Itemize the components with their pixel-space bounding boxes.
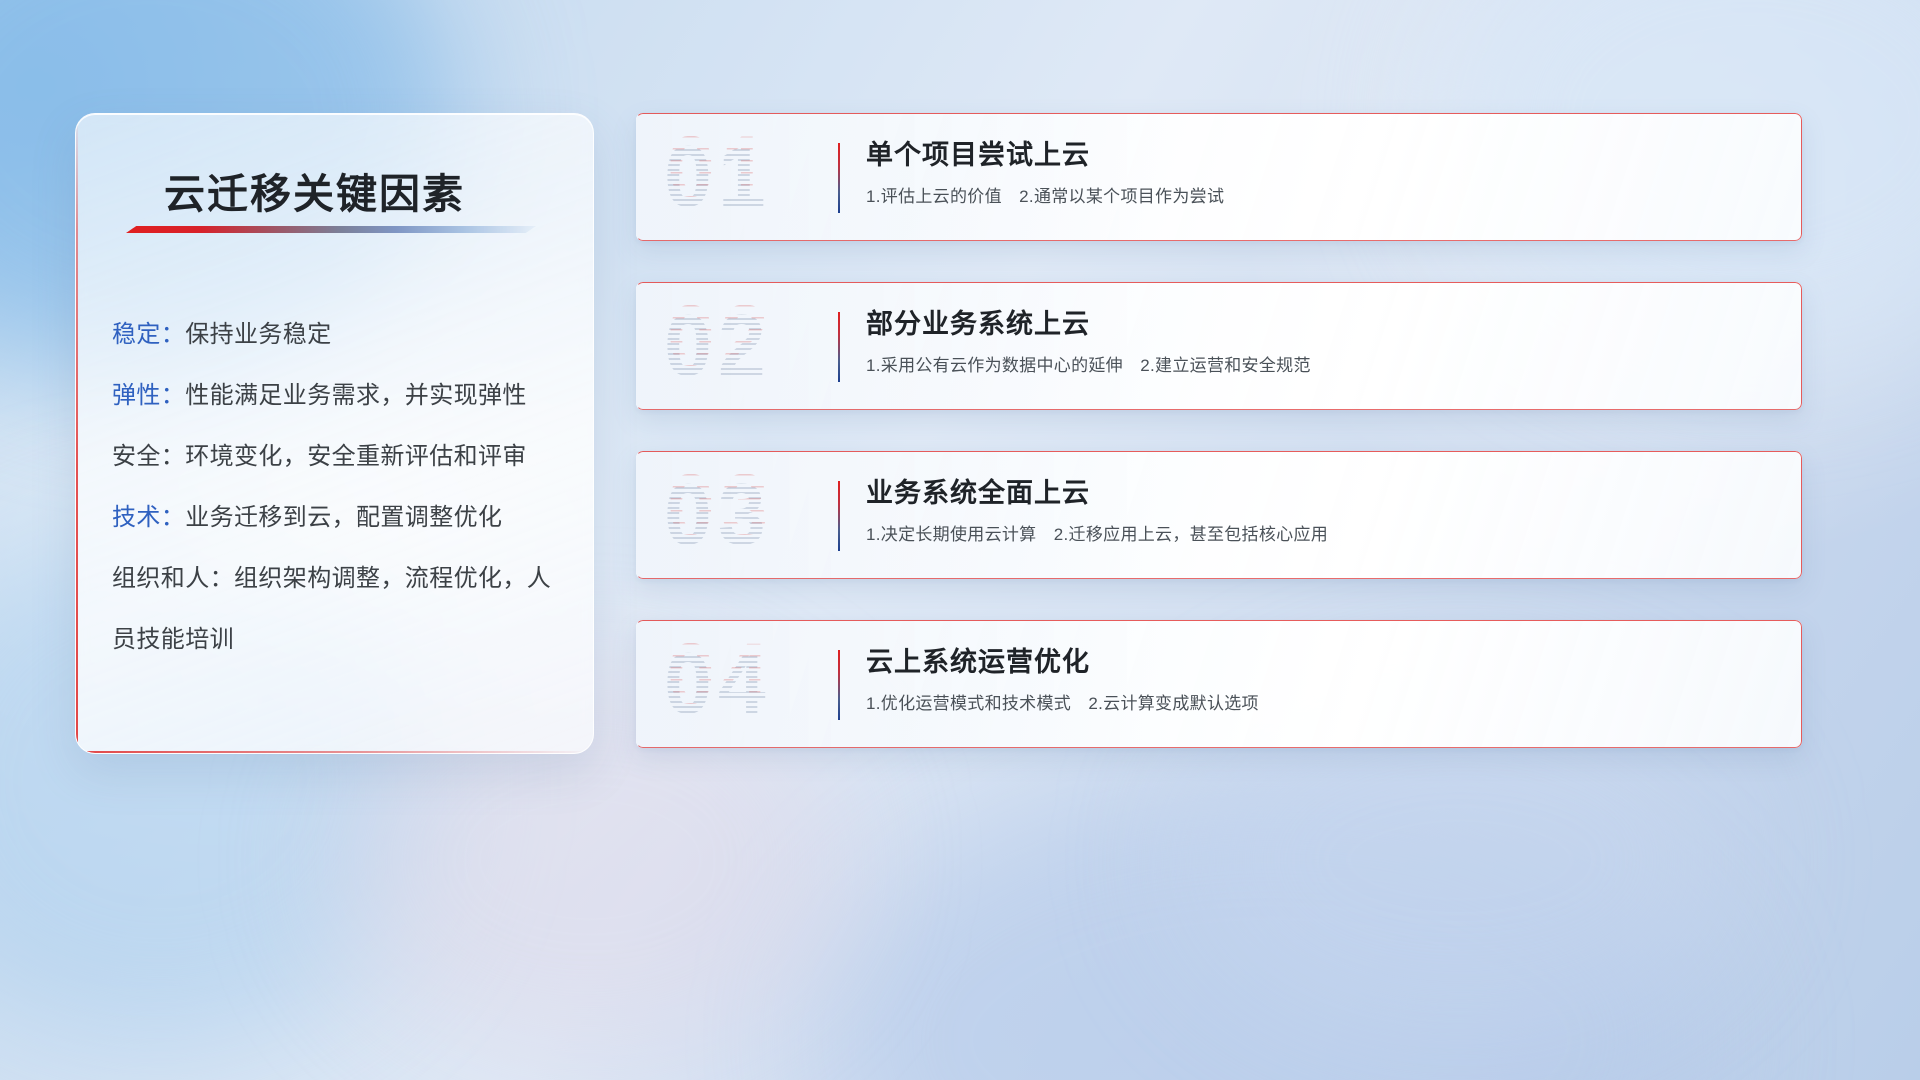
card-title: 部分业务系统上云	[866, 308, 1778, 342]
card-body: 单个项目尝试上云 1.评估上云的价值 2.通常以某个项目作为尝试	[866, 139, 1778, 208]
card-title: 业务系统全面上云	[866, 477, 1778, 511]
slide-canvas: 云迁移关键因素 稳定：保持业务稳定 弹性：性能满足业务需求，并实现弹性 安全：环…	[0, 0, 1920, 1080]
key-factors-list: 稳定：保持业务稳定 弹性：性能满足业务需求，并实现弹性 安全：环境变化，安全重新…	[112, 304, 569, 670]
list-item-label: 技术：	[112, 504, 185, 531]
card-accent-divider	[838, 312, 840, 382]
list-item-text: 保持业务稳定	[185, 321, 331, 348]
list-item: 弹性：性能满足业务需求，并实现弹性	[112, 365, 569, 426]
stage-card[interactable]: 04 04 云上系统运营优化 1.优化运营模式和技术模式 2.云计算变成默认选项	[636, 620, 1802, 748]
migration-stage-cards: 01 01 单个项目尝试上云 1.评估上云的价值 2.通常以某个项目作为尝试 0…	[636, 113, 1802, 789]
stage-card[interactable]: 02 02 部分业务系统上云 1.采用公有云作为数据中心的延伸 2.建立运营和安…	[636, 282, 1802, 410]
card-description: 1.优化运营模式和技术模式 2.云计算变成默认选项	[866, 693, 1778, 715]
card-description: 1.决定长期使用云计算 2.迁移应用上云，甚至包括核心应用	[866, 524, 1778, 546]
card-accent-divider	[838, 650, 840, 720]
list-item-text: 环境变化，安全重新评估和评审	[185, 443, 527, 470]
list-item-text: 性能满足业务需求，并实现弹性	[185, 382, 527, 409]
card-accent-divider	[838, 143, 840, 213]
list-item: 组织和人：组织架构调整，流程优化，人员技能培训	[112, 548, 569, 670]
card-title: 单个项目尝试上云	[866, 139, 1778, 173]
stage-number: 01	[664, 134, 772, 220]
page-title: 云迁移关键因素	[164, 160, 465, 220]
list-item-label: 安全：	[112, 443, 185, 470]
list-item-label: 稳定：	[112, 321, 185, 348]
list-item: 技术：业务迁移到云，配置调整优化	[112, 487, 569, 548]
card-body: 部分业务系统上云 1.采用公有云作为数据中心的延伸 2.建立运营和安全规范	[866, 308, 1778, 377]
stage-card[interactable]: 01 01 单个项目尝试上云 1.评估上云的价值 2.通常以某个项目作为尝试	[636, 113, 1802, 241]
stage-number: 03	[664, 472, 772, 558]
panel-bottom-accent-line	[76, 751, 593, 753]
card-body: 云上系统运营优化 1.优化运营模式和技术模式 2.云计算变成默认选项	[866, 646, 1778, 715]
list-item: 安全：环境变化，安全重新评估和评审	[112, 426, 569, 487]
card-accent-divider	[838, 481, 840, 551]
card-body: 业务系统全面上云 1.决定长期使用云计算 2.迁移应用上云，甚至包括核心应用	[866, 477, 1778, 546]
key-factors-panel: 云迁移关键因素 稳定：保持业务稳定 弹性：性能满足业务需求，并实现弹性 安全：环…	[75, 113, 594, 754]
card-description: 1.评估上云的价值 2.通常以某个项目作为尝试	[866, 186, 1778, 208]
stage-number: 02	[664, 303, 772, 389]
stage-card[interactable]: 03 03 业务系统全面上云 1.决定长期使用云计算 2.迁移应用上云，甚至包括…	[636, 451, 1802, 579]
card-description: 1.采用公有云作为数据中心的延伸 2.建立运营和安全规范	[866, 355, 1778, 377]
stage-number: 04	[664, 641, 772, 727]
card-title: 云上系统运营优化	[866, 646, 1778, 680]
list-item-label: 弹性：	[112, 382, 185, 409]
list-item-text: 业务迁移到云，配置调整优化	[185, 504, 502, 531]
list-item: 稳定：保持业务稳定	[112, 304, 569, 365]
background-glow-bottom	[820, 780, 1720, 1080]
title-underline-gradient	[126, 226, 536, 233]
list-item-label: 组织和人：	[112, 565, 234, 592]
